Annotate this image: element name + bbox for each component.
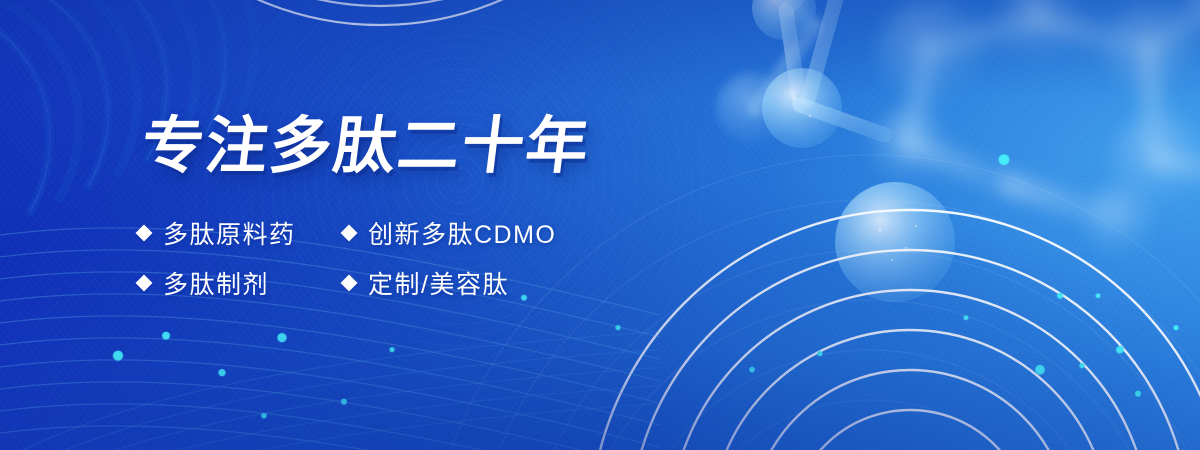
feature-item-formulation[interactable]: 多肽制剂 xyxy=(138,265,343,301)
feature-item-api[interactable]: 多肽原料药 xyxy=(138,215,343,251)
feature-item-cdmo[interactable]: 创新多肽CDMO xyxy=(343,215,1200,251)
feature-label: 创新多肽CDMO xyxy=(368,215,556,251)
banner-content: 专注多肽二十年 多肽原料药 创新多肽CDMO 多肽制剂 定制/美容肽 xyxy=(0,0,1200,450)
feature-label: 多肽原料药 xyxy=(163,215,296,251)
diamond-bullet-icon xyxy=(136,275,153,292)
diamond-bullet-icon xyxy=(341,225,358,242)
feature-label: 多肽制剂 xyxy=(163,265,269,301)
page-title: 专注多肽二十年 xyxy=(138,116,1200,178)
diamond-bullet-icon xyxy=(136,225,153,242)
diamond-bullet-icon xyxy=(341,275,358,292)
hero-banner: 专注多肽二十年 多肽原料药 创新多肽CDMO 多肽制剂 定制/美容肽 xyxy=(0,0,1200,450)
feature-item-custom[interactable]: 定制/美容肽 xyxy=(343,265,1200,301)
feature-label: 定制/美容肽 xyxy=(368,265,509,301)
feature-list: 多肽原料药 创新多肽CDMO 多肽制剂 定制/美容肽 xyxy=(138,208,1200,308)
